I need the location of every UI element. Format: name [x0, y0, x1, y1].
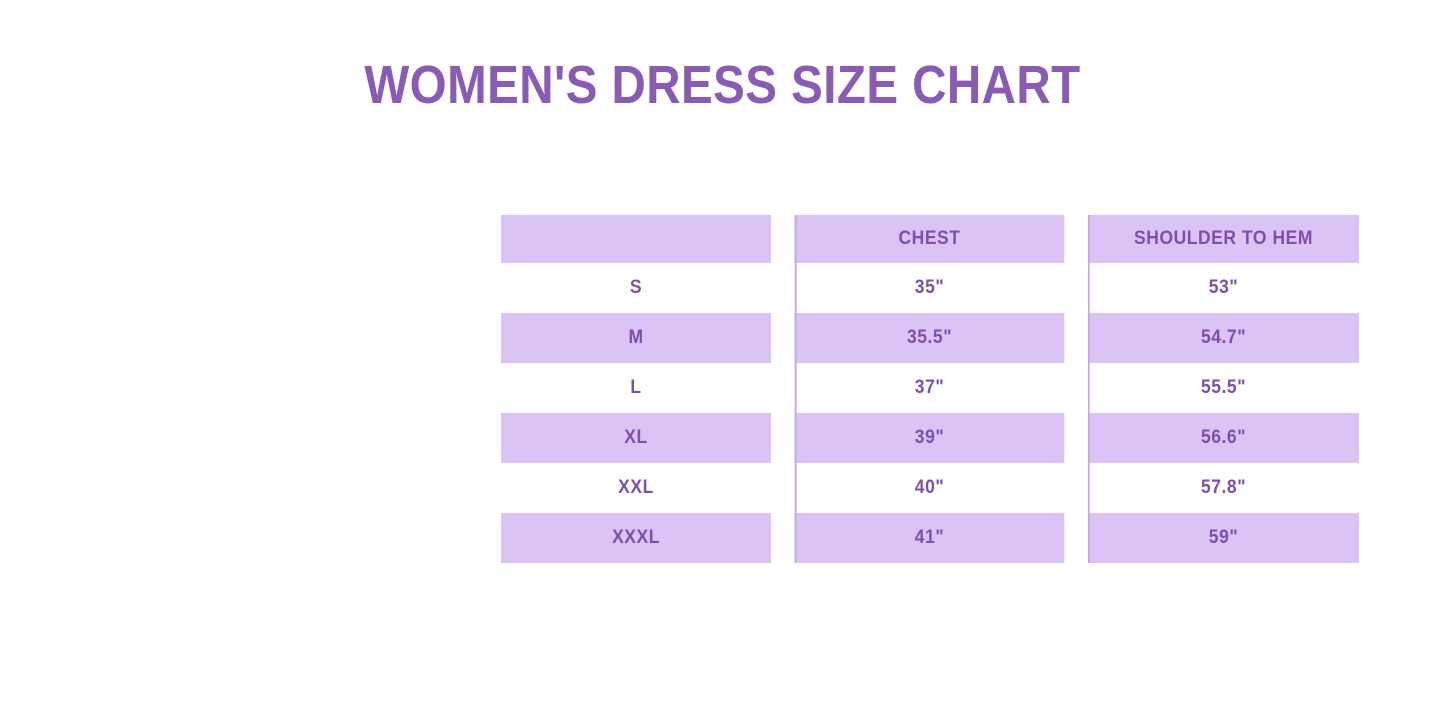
- cell-size: XXL: [501, 463, 771, 513]
- table-row: S 35" 53": [489, 263, 1371, 313]
- cell-size: XXXL: [501, 513, 771, 563]
- column-header-chest: CHEST: [795, 215, 1065, 263]
- cell-shoulder-to-hem: 57.8": [1088, 463, 1359, 513]
- cell-chest: 37": [795, 363, 1065, 413]
- table-row: XXL 40" 57.8": [489, 463, 1371, 513]
- cell-chest: 41": [795, 513, 1065, 563]
- cell-chest: 40": [795, 463, 1065, 513]
- column-header-shoulder-to-hem: SHOULDER TO HEM: [1088, 215, 1359, 263]
- cell-shoulder-to-hem: 59": [1088, 513, 1359, 563]
- column-header-size: [501, 215, 771, 263]
- size-chart-table: CHEST SHOULDER TO HEM S 35" 53" M 35.5" …: [489, 215, 1371, 563]
- table-body: S 35" 53" M 35.5" 54.7" L 37" 55.5" XL 3…: [489, 263, 1371, 563]
- cell-size: M: [501, 313, 771, 363]
- size-chart-table-container: CHEST SHOULDER TO HEM S 35" 53" M 35.5" …: [489, 215, 1371, 566]
- table-row: L 37" 55.5": [489, 363, 1371, 413]
- cell-size: XL: [501, 413, 771, 463]
- cell-chest: 35.5": [795, 313, 1065, 363]
- cell-shoulder-to-hem: 54.7": [1088, 313, 1359, 363]
- cell-shoulder-to-hem: 55.5": [1088, 363, 1359, 413]
- cell-size: L: [501, 363, 771, 413]
- cell-size: S: [501, 263, 771, 313]
- table-row: XXXL 41" 59": [489, 513, 1371, 563]
- table-row: XL 39" 56.6": [489, 413, 1371, 463]
- table-header-row: CHEST SHOULDER TO HEM: [489, 215, 1371, 263]
- cell-chest: 35": [795, 263, 1065, 313]
- size-chart-page: WOMEN'S DRESS SIZE CHART CHEST SHOULDER …: [0, 0, 1445, 723]
- page-title: WOMEN'S DRESS SIZE CHART: [87, 57, 1359, 114]
- cell-chest: 39": [795, 413, 1065, 463]
- table-header: CHEST SHOULDER TO HEM: [489, 215, 1371, 263]
- table-row: M 35.5" 54.7": [489, 313, 1371, 363]
- cell-shoulder-to-hem: 53": [1088, 263, 1359, 313]
- cell-shoulder-to-hem: 56.6": [1088, 413, 1359, 463]
